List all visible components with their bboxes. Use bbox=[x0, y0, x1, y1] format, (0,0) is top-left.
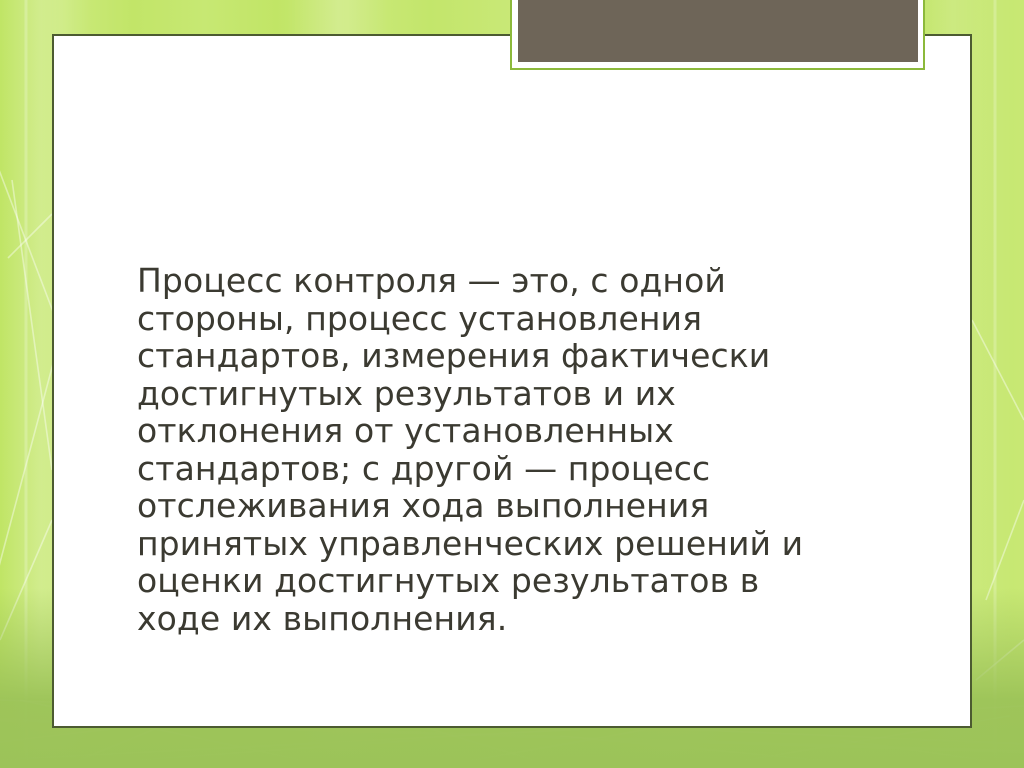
presentation-slide: Процесс контроля — это, с одной стороны,… bbox=[0, 0, 1024, 768]
header-accent-block bbox=[518, 0, 918, 62]
slide-body-text: Процесс контроля — это, с одной стороны,… bbox=[137, 262, 837, 637]
